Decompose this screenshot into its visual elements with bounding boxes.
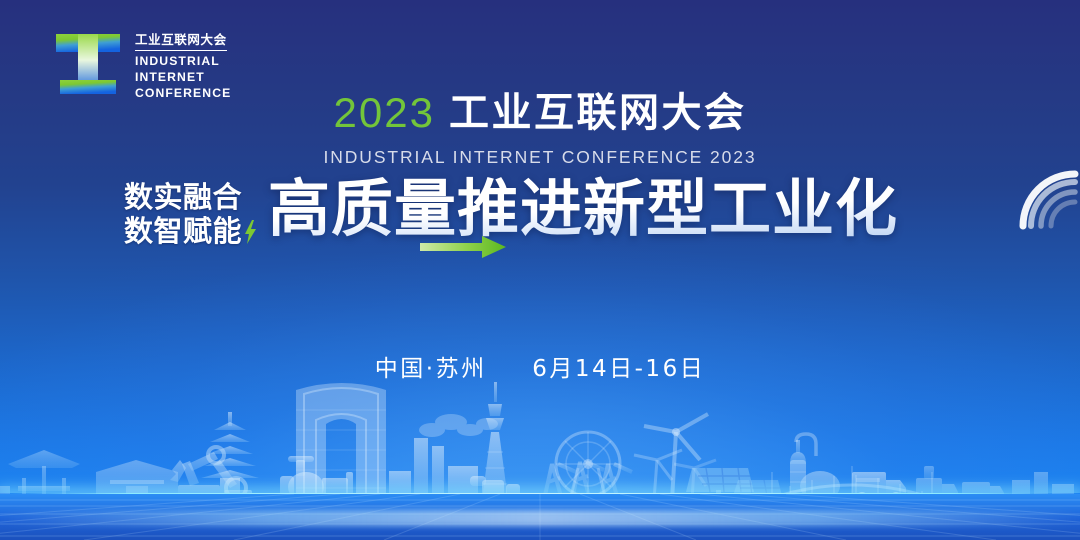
slogan-block: 数实融合 数智赋能 高质量推进新型工业化 (0, 176, 1080, 286)
logo-english-line-2: INTERNET (135, 69, 231, 85)
slogan-main-text: 高质量推进新型工业化 (268, 176, 898, 241)
floor-reflection (0, 510, 1080, 526)
slogan-small-lines: 数实融合 数智赋能 (124, 176, 256, 248)
title-year: 2023 (334, 92, 435, 134)
green-arrow-accent-icon (420, 234, 506, 260)
ferris-wheel-icon (556, 432, 620, 501)
city-industry-skyline (0, 360, 1080, 540)
slogan-small-text-2: 数智赋能 (124, 216, 242, 247)
title-main-row: 2023 工业互联网大会 (0, 88, 1080, 138)
title-chinese: 工业互联网大会 (449, 93, 747, 133)
slogan-small-line-2: 数智赋能 (124, 216, 256, 247)
slogan-small-line-1: 数实融合 (124, 182, 256, 213)
title-subtitle: INDUSTRIAL INTERNET CONFERENCE 2023 (0, 147, 1080, 168)
logo-english-line-1: INDUSTRIAL (135, 53, 231, 69)
wifi-signal-accent-icon (1017, 168, 1080, 230)
perspective-data-grid (0, 494, 1080, 540)
title-block: 2023 工业互联网大会 INDUSTRIAL INTERNET CONFERE… (0, 88, 1080, 168)
lightning-bolt-icon (245, 220, 256, 244)
tv-tower-icon (482, 382, 508, 500)
slogan-small-text-1: 数实融合 (124, 182, 242, 213)
logo-chinese-name: 工业互联网大会 (135, 33, 227, 51)
slogan-inner: 数实融合 数智赋能 高质量推进新型工业化 (124, 176, 898, 248)
conference-banner: 工业互联网大会 INDUSTRIAL INTERNET CONFERENCE 2… (0, 0, 1080, 540)
